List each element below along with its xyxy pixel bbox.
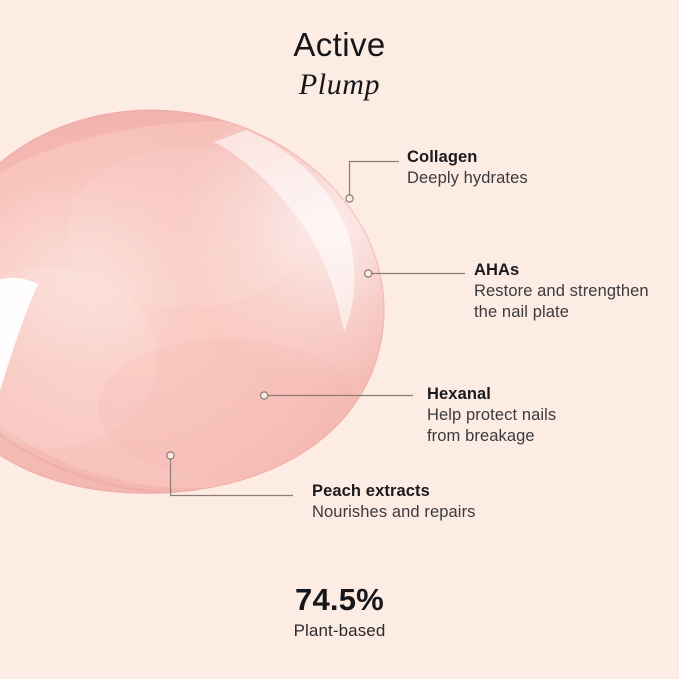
title-line-plump: Plump [0,67,679,103]
callout-ahas-title: AHAs [474,260,649,281]
plant-based-stat-label: Plant-based [0,620,679,642]
callout-peach-extracts-desc-line-1: Nourishes and repairs [312,502,476,523]
callout-collagen: Collagen Deeply hydrates [407,147,528,189]
callout-ahas: AHAs Restore and strengthen the nail pla… [474,260,649,323]
callout-collagen-title: Collagen [407,147,528,168]
callout-ahas-desc-line-2: the nail plate [474,302,649,323]
callout-collagen-desc-line-1: Deeply hydrates [407,168,528,189]
callout-hexanal: Hexanal Help protect nails from breakage [427,384,556,447]
page-title: Active Plump [0,26,679,103]
callout-peach-extracts: Peach extracts Nourishes and repairs [312,481,476,523]
plant-based-stat-value: 74.5% [0,581,679,618]
plant-based-stat: 74.5% Plant-based [0,581,679,642]
gel-droplet-swatch [0,108,398,498]
callout-peach-extracts-title: Peach extracts [312,481,476,502]
callout-hexanal-desc-line-2: from breakage [427,426,556,447]
callout-hexanal-desc-line-1: Help protect nails [427,405,556,426]
callout-ahas-desc-line-1: Restore and strengthen [474,281,649,302]
title-line-active: Active [0,26,679,64]
callout-hexanal-title: Hexanal [427,384,556,405]
product-ingredient-infographic: Active Plump [0,0,679,679]
